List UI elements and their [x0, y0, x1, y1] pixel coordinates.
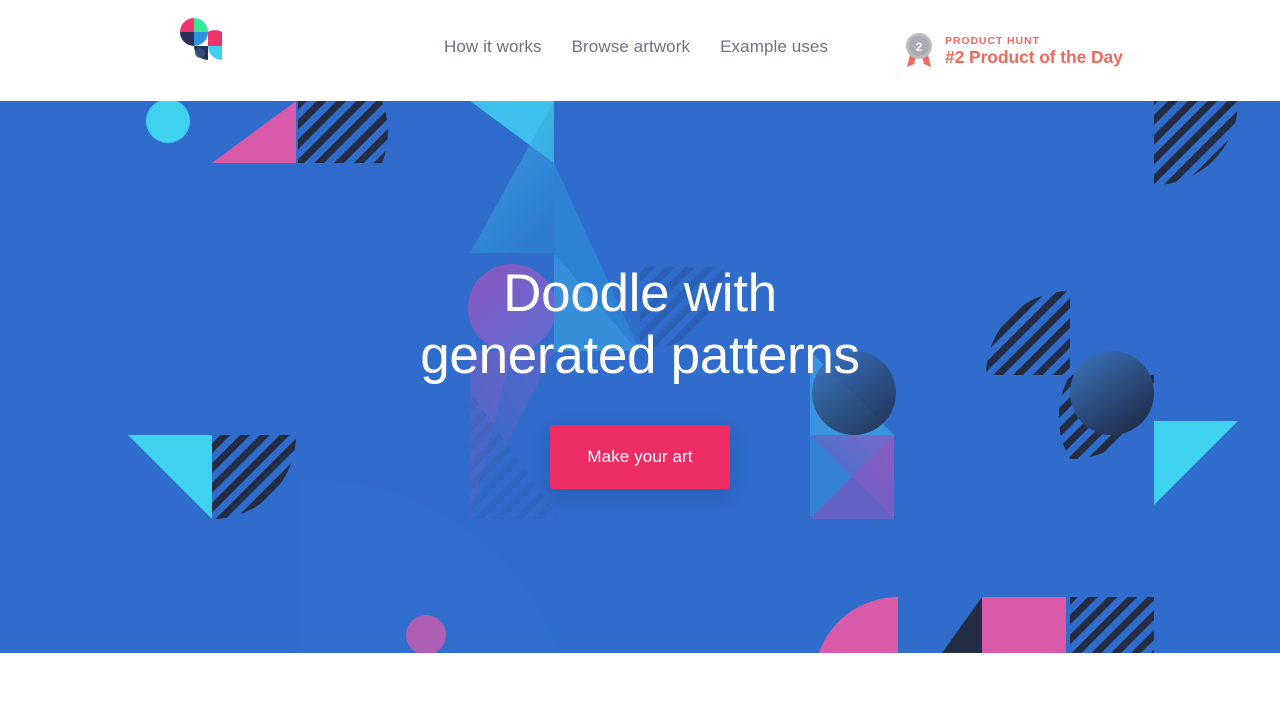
- page-title: Doodle with generated patterns: [360, 263, 920, 387]
- product-hunt-badge[interactable]: 2 PRODUCT HUNT #2 Product of the Day: [903, 31, 1123, 71]
- hero-section: Doodle with generated patterns Make your…: [0, 101, 1280, 653]
- nav-example-uses[interactable]: Example uses: [720, 37, 828, 57]
- main-nav: How it works Browse artwork Example uses: [444, 37, 828, 57]
- nav-how-it-works[interactable]: How it works: [444, 37, 542, 57]
- site-header: How it works Browse artwork Example uses…: [0, 0, 1280, 101]
- hero-title-line-2: generated patterns: [420, 326, 860, 385]
- make-your-art-button[interactable]: Make your art: [550, 425, 730, 489]
- product-hunt-title: #2 Product of the Day: [945, 49, 1123, 67]
- medal-rank-text: 2: [916, 40, 923, 54]
- doodle-logo[interactable]: [174, 18, 232, 80]
- product-hunt-kicker: PRODUCT HUNT: [945, 36, 1123, 47]
- medal-icon: 2: [903, 31, 937, 71]
- hero-content: Doodle with generated patterns Make your…: [0, 101, 1280, 653]
- nav-browse-artwork[interactable]: Browse artwork: [572, 37, 691, 57]
- product-hunt-text: PRODUCT HUNT #2 Product of the Day: [945, 36, 1123, 67]
- page-footer-area: [0, 653, 1280, 720]
- hero-title-line-1: Doodle with: [503, 264, 777, 323]
- doodle-logo-icon: [174, 18, 232, 80]
